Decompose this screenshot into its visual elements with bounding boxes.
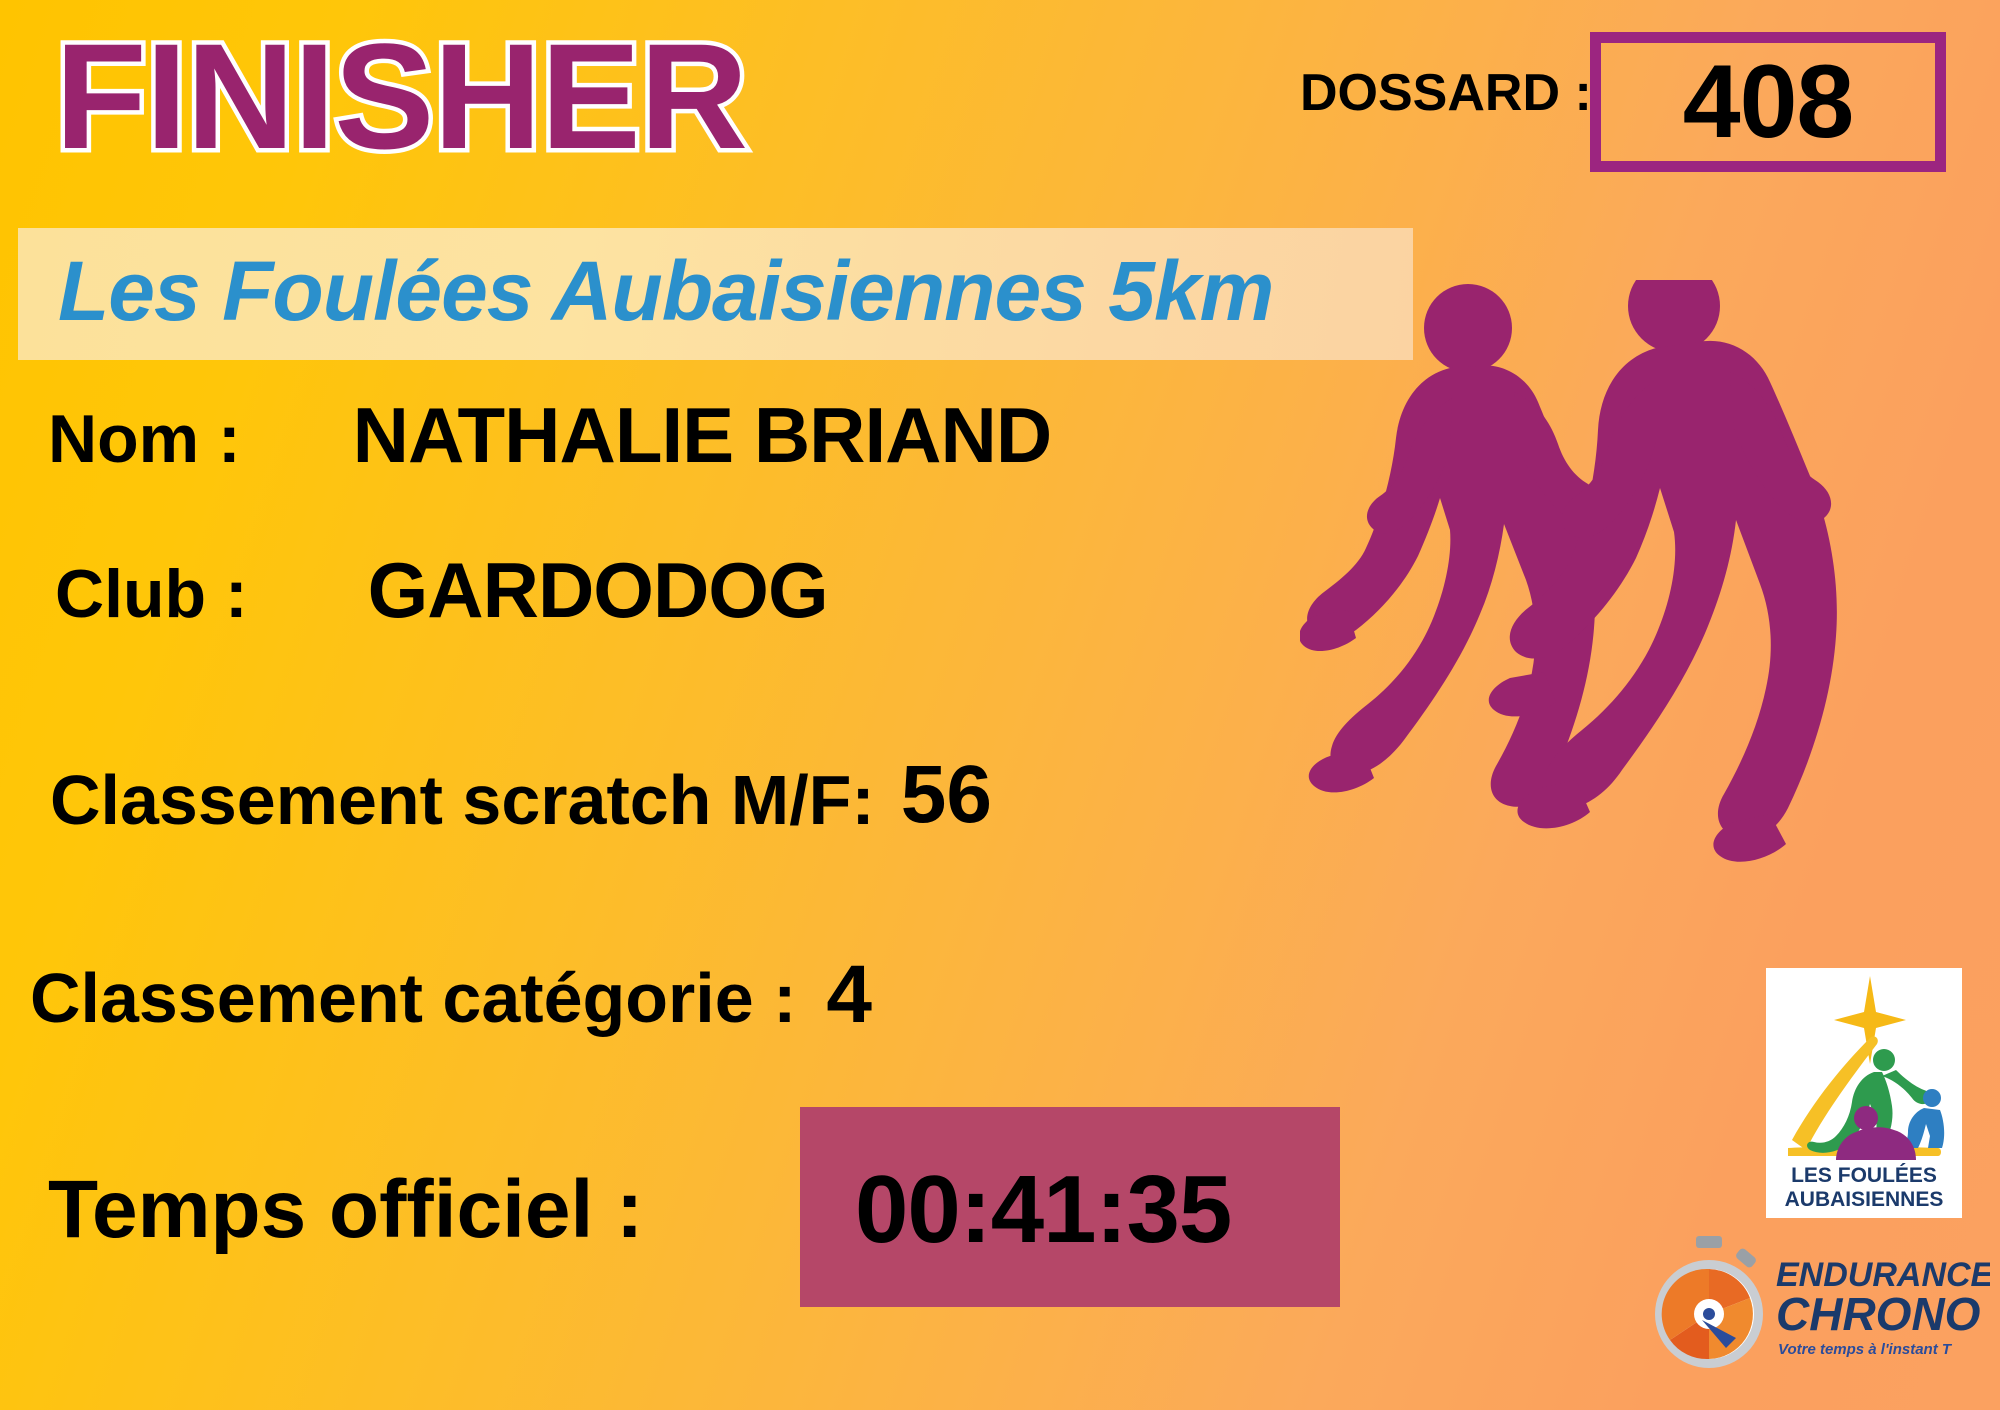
field-label-official-time: Temps officiel : [48, 1163, 643, 1257]
finisher-certificate: FINISHER DOSSARD : 408 Les Foulées Aubai… [0, 0, 2000, 1410]
field-label-scratch-rank: Classement scratch M/F: [50, 760, 875, 840]
field-value-category-rank: 4 [826, 948, 872, 1042]
page-title: FINISHER [55, 18, 747, 176]
runners-silhouette-icon [1300, 280, 2000, 1000]
field-label-category-rank: Classement catégorie : [30, 958, 796, 1038]
field-value-official-time: 00:41:35 [855, 1155, 1231, 1265]
field-row-nom: Nom :NATHALIE BRIAND [48, 390, 1051, 481]
field-row-official-time: Temps officiel : [48, 1163, 643, 1257]
foulees-logo-line2: AUBAISIENNES [1785, 1188, 1944, 1211]
chrono-logo-tagline: Votre temps à l'instant T [1778, 1341, 1953, 1358]
foulees-aubaisiennes-logo: LES FOULÉES AUBAISIENNES [1766, 968, 1962, 1218]
field-label-club: Club : [55, 555, 248, 633]
field-row-club: Club :GARDODOG [55, 545, 828, 636]
field-row-category-rank: Classement catégorie :4 [30, 948, 872, 1042]
dossard-value: 408 [1683, 50, 1854, 154]
field-value-club: GARDODOG [368, 545, 828, 636]
race-title: Les Foulées Aubaisiennes 5km [58, 239, 1273, 344]
chrono-logo-line2: CHRONO [1776, 1288, 1981, 1340]
race-title-band: Les Foulées Aubaisiennes 5km [18, 228, 1413, 360]
foulees-logo-line1: LES FOULÉES [1791, 1164, 1937, 1187]
field-value-nom: NATHALIE BRIAND [353, 390, 1052, 481]
stopwatch-icon [1655, 1236, 1763, 1368]
endurance-chrono-logo: ENDURANCE CHRONO Votre temps à l'instant… [1640, 1230, 1990, 1380]
field-label-nom: Nom : [48, 400, 241, 478]
dossard-label: DOSSARD : [1300, 63, 1592, 123]
field-row-scratch-rank: Classement scratch M/F:56 [50, 748, 992, 842]
field-value-scratch-rank: 56 [901, 748, 992, 842]
dossard-box: 408 [1590, 32, 1946, 172]
